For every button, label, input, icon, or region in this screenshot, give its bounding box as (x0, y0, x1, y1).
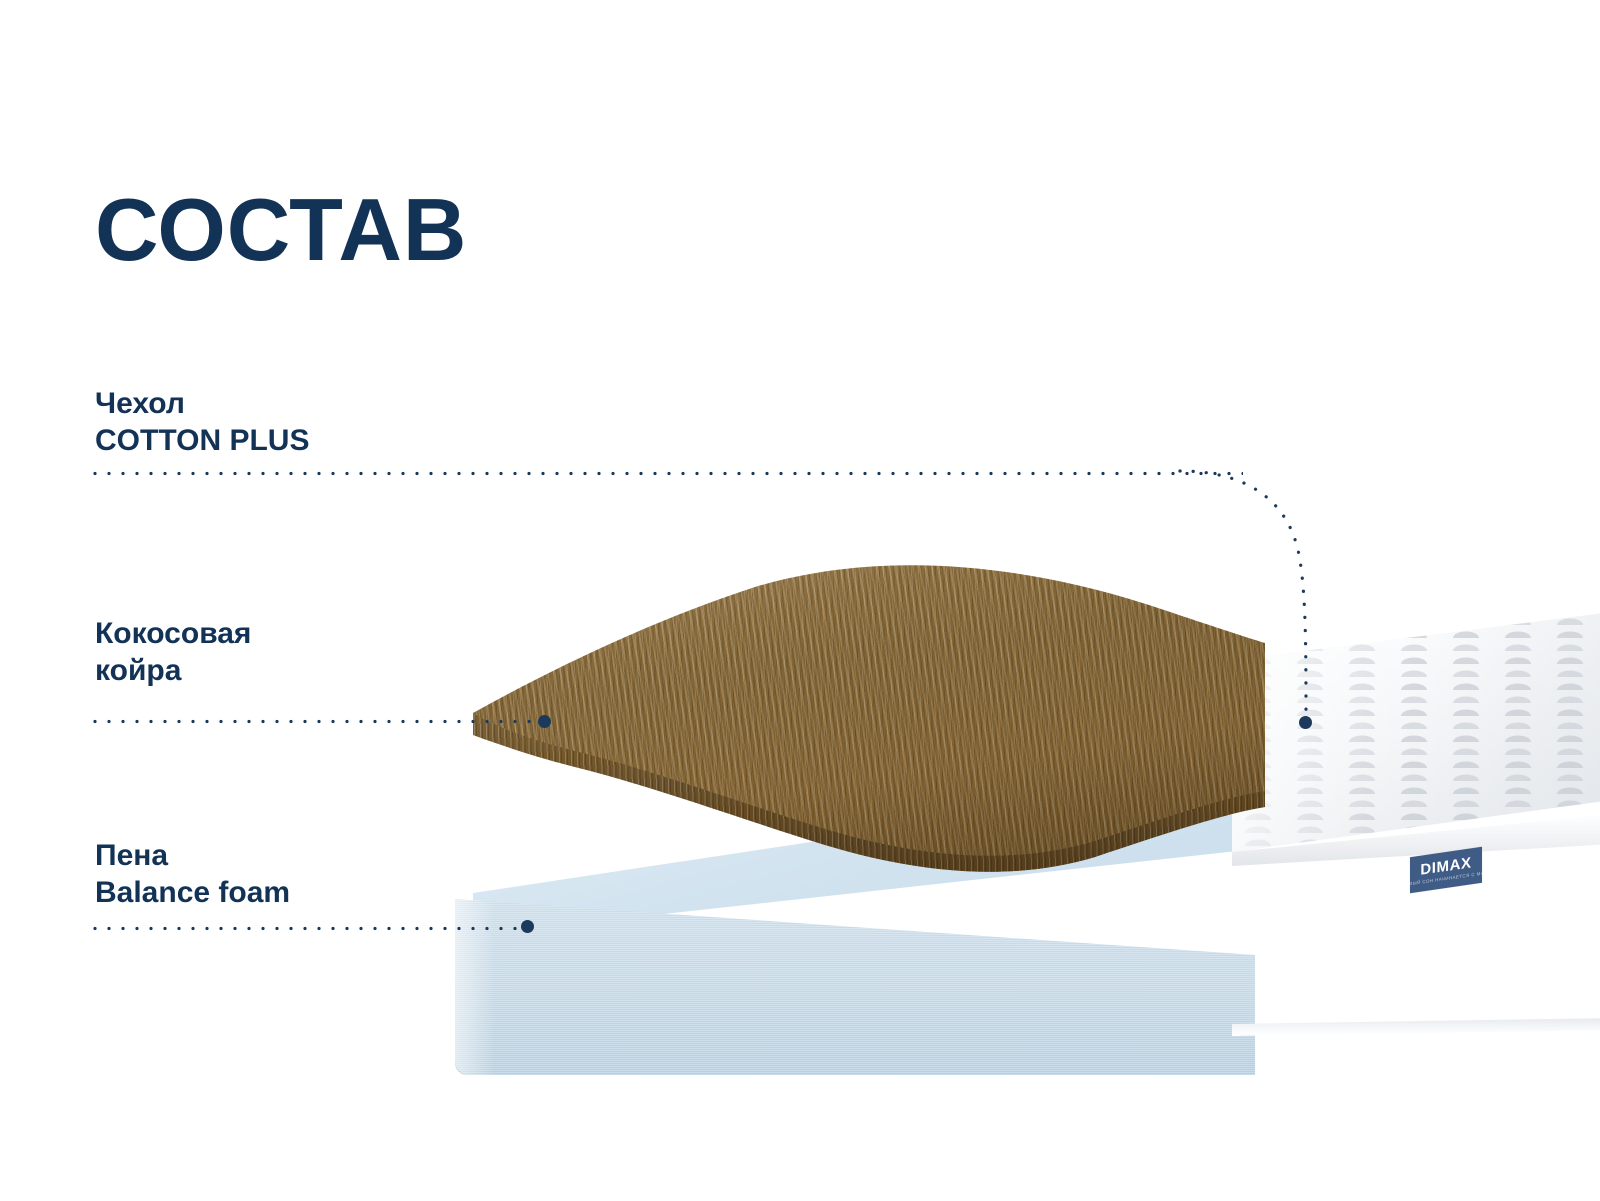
callout-foam-line2: Balance foam (95, 875, 290, 912)
leader-line-foam (88, 926, 528, 931)
coconut-coir-sheet (455, 545, 1265, 875)
infographic-page: СОСТАВ DIMAX ЗДОРОВЫЙ СОН НАЧИНАЕТСЯ С М… (0, 0, 1600, 1201)
leader-endpoint-coir (538, 715, 551, 728)
callout-foam: Пена Balance foam (95, 838, 290, 911)
callout-cover-line2: COTTON PLUS (95, 423, 309, 460)
leader-line-coir (88, 719, 543, 724)
callout-coir-line2: койра (95, 653, 251, 690)
callout-foam-line1: Пена (95, 838, 290, 875)
callout-cover: Чехол COTTON PLUS (95, 386, 309, 459)
foam-side-face (455, 883, 1255, 1075)
leader-endpoint-cover (1299, 716, 1312, 729)
leader-line-cover (88, 471, 1243, 476)
callout-coir: Кокосовая койра (95, 616, 251, 689)
callout-cover-line1: Чехол (95, 386, 309, 423)
page-title: СОСТАВ (95, 186, 467, 274)
leader-curve-cover (1180, 455, 1380, 745)
callout-coir-line1: Кокосовая (95, 616, 251, 653)
leader-endpoint-foam (521, 920, 534, 933)
